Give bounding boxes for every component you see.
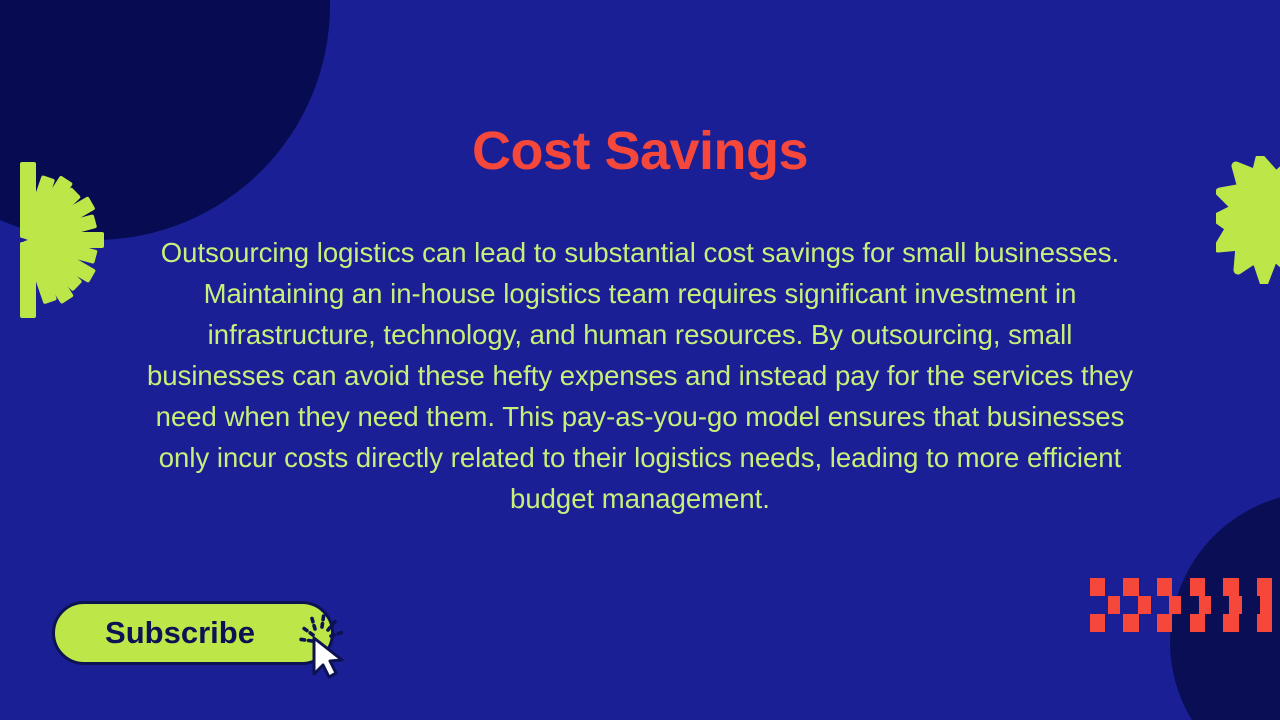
cursor-click-icon [286,605,350,679]
page-title: Cost Savings [0,124,1280,178]
slide-canvas: Cost Savings Outsourcing logistics can l… [0,0,1280,720]
subscribe-button-label: Subscribe [105,615,255,651]
slide-content: Cost Savings Outsourcing logistics can l… [0,0,1280,720]
body-paragraph: Outsourcing logistics can lead to substa… [140,232,1140,519]
